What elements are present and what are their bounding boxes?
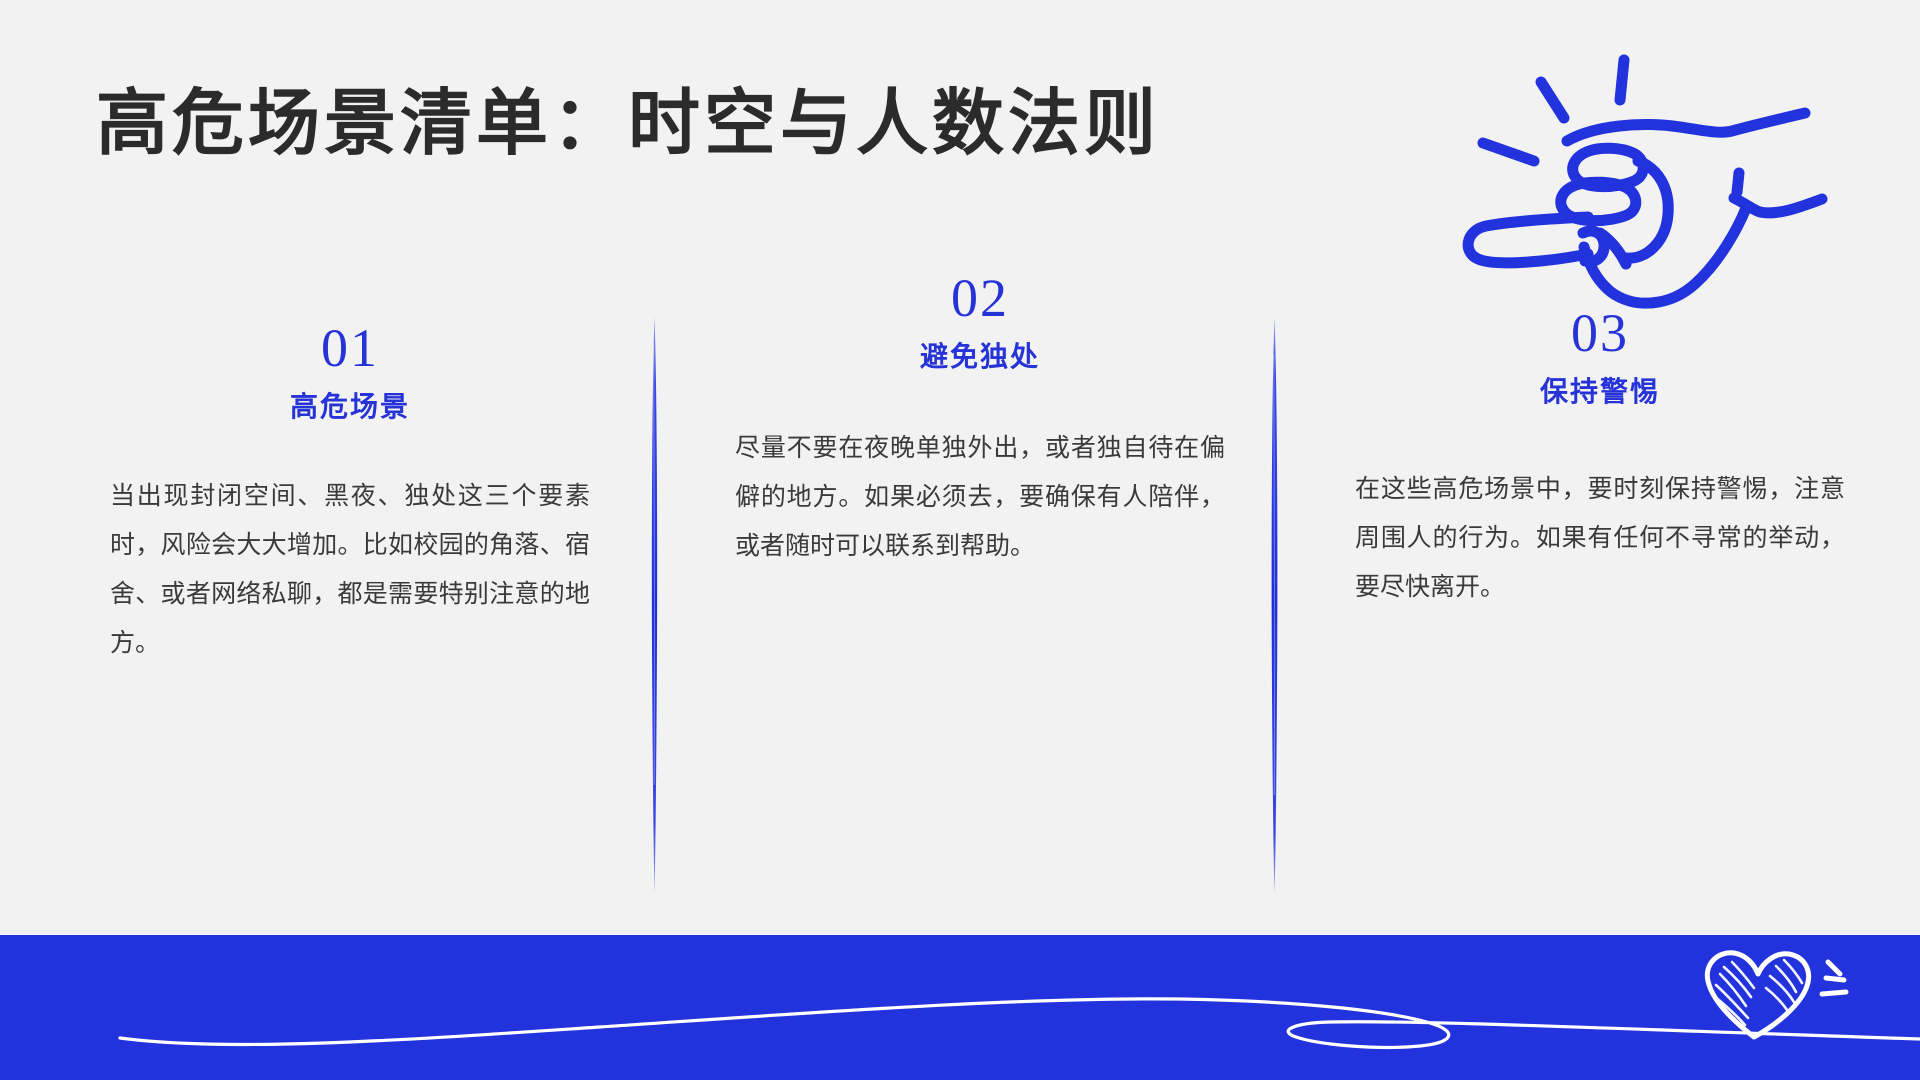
sketch-heart-icon (1688, 940, 1868, 1055)
column-body-2: 尽量不要在夜晚单独外出，或者独自待在偏僻的地方。如果必须去，要确保有人陪伴，或者… (735, 424, 1225, 570)
column-number-2: 02 (735, 270, 1225, 327)
column-subtitle-1: 高危场景 (110, 391, 590, 425)
content-column-2: 02 避免独处 尽量不要在夜晚单独外出，或者独自待在偏僻的地方。如果必须去，要确… (735, 270, 1225, 571)
content-column-3: 03 保持警惕 在这些高危场景中，要时刻保持警惕，注意周围人的行为。如果有任何不… (1355, 270, 1845, 612)
column-body-1: 当出现封闭空间、黑夜、独处这三个要素时，风险会大大增加。比如校园的角落、宿舍、或… (110, 472, 590, 667)
content-column-1: 01 高危场景 当出现封闭空间、黑夜、独处这三个要素时，风险会大大增加。比如校园… (110, 270, 590, 667)
column-number-1: 01 (110, 320, 590, 377)
column-header-1: 01 高危场景 (110, 270, 590, 424)
column-body-3: 在这些高危场景中，要时刻保持警惕，注意周围人的行为。如果有任何不寻常的举动，要尽… (1355, 465, 1845, 611)
column-header-2: 02 避免独处 (735, 270, 1225, 374)
slide-canvas: 高危场景清单：时空与人数法则 (0, 0, 1920, 1080)
page-title: 高危场景清单：时空与人数法则 (96, 88, 1160, 160)
column-number-3: 03 (1355, 305, 1845, 362)
content-columns: 01 高危场景 当出现封闭空间、黑夜、独处这三个要素时，风险会大大增加。比如校园… (0, 270, 1920, 910)
swoosh-line-icon (0, 935, 1920, 1080)
column-subtitle-3: 保持警惕 (1355, 376, 1845, 410)
column-header-3: 03 保持警惕 (1355, 270, 1845, 409)
footer-band (0, 935, 1920, 1080)
column-subtitle-2: 避免独处 (735, 341, 1225, 375)
